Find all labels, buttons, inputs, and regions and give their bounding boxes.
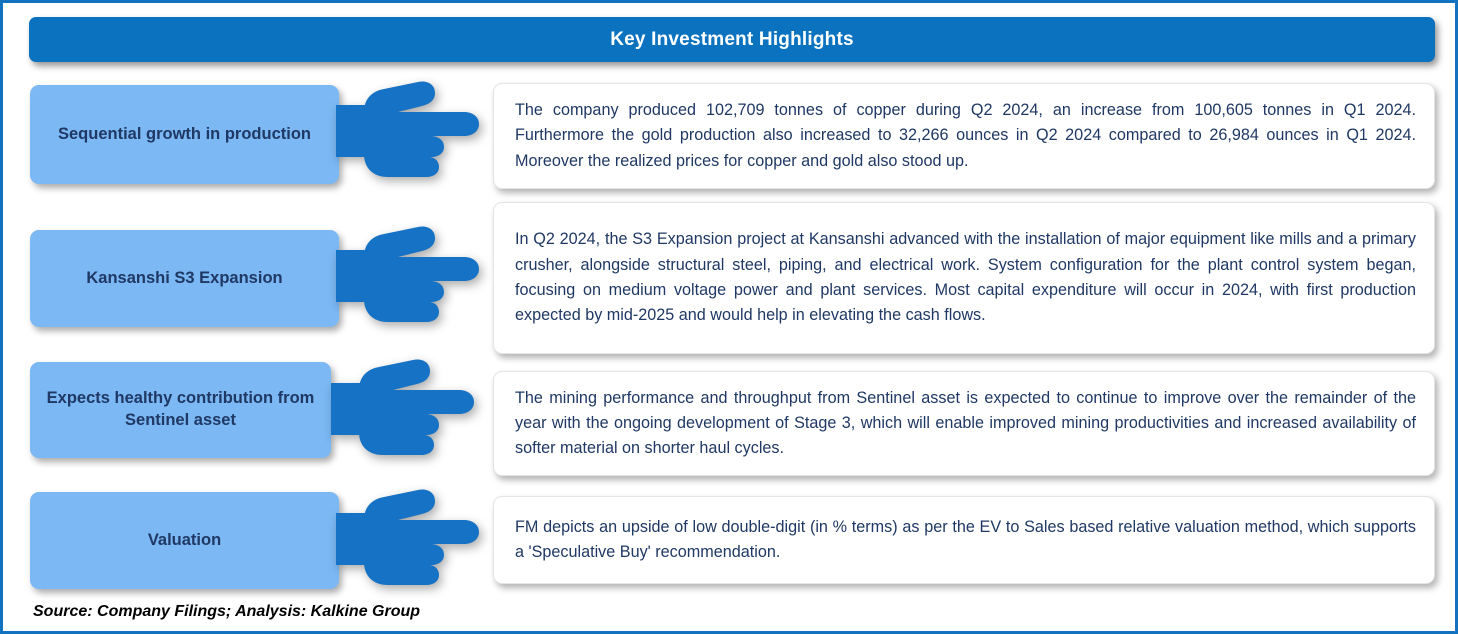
highlight-text-card: In Q2 2024, the S3 Expansion project at … (493, 202, 1435, 354)
header-banner: Key Investment Highlights (29, 17, 1435, 62)
infographic-page: Key Investment Highlights Sequential gro… (0, 0, 1458, 634)
highlight-text-card: The mining performance and throughput fr… (493, 371, 1435, 476)
highlight-text-card: FM depicts an upside of low double-digit… (493, 496, 1435, 584)
pointing-hand-right-icon (331, 357, 481, 461)
highlight-label-box[interactable]: Valuation (30, 492, 339, 589)
highlight-body-text: In Q2 2024, the S3 Expansion project at … (515, 227, 1416, 328)
highlight-label-box[interactable]: Expects healthy contribution from Sentin… (30, 362, 331, 458)
highlight-body-text: The mining performance and throughput fr… (515, 386, 1416, 462)
highlight-body-text: FM depicts an upside of low double-digit… (515, 515, 1416, 566)
highlight-label-text: Expects healthy contribution from Sentin… (44, 388, 317, 432)
highlight-label-text: Kansanshi S3 Expansion (86, 268, 282, 290)
pointing-hand-right-icon (336, 79, 486, 183)
highlight-label-box[interactable]: Sequential growth in production (30, 85, 339, 184)
highlight-text-card: The company produced 102,709 tonnes of c… (493, 83, 1435, 189)
pointing-hand-right-icon (336, 224, 486, 328)
highlight-label-text: Valuation (148, 530, 221, 552)
highlight-label-box[interactable]: Kansanshi S3 Expansion (30, 230, 339, 327)
highlight-label-text: Sequential growth in production (58, 124, 311, 146)
source-note: Source: Company Filings; Analysis: Kalki… (33, 603, 420, 621)
page-title: Key Investment Highlights (610, 29, 854, 51)
highlight-body-text: The company produced 102,709 tonnes of c… (515, 98, 1416, 174)
pointing-hand-right-icon (336, 487, 486, 591)
